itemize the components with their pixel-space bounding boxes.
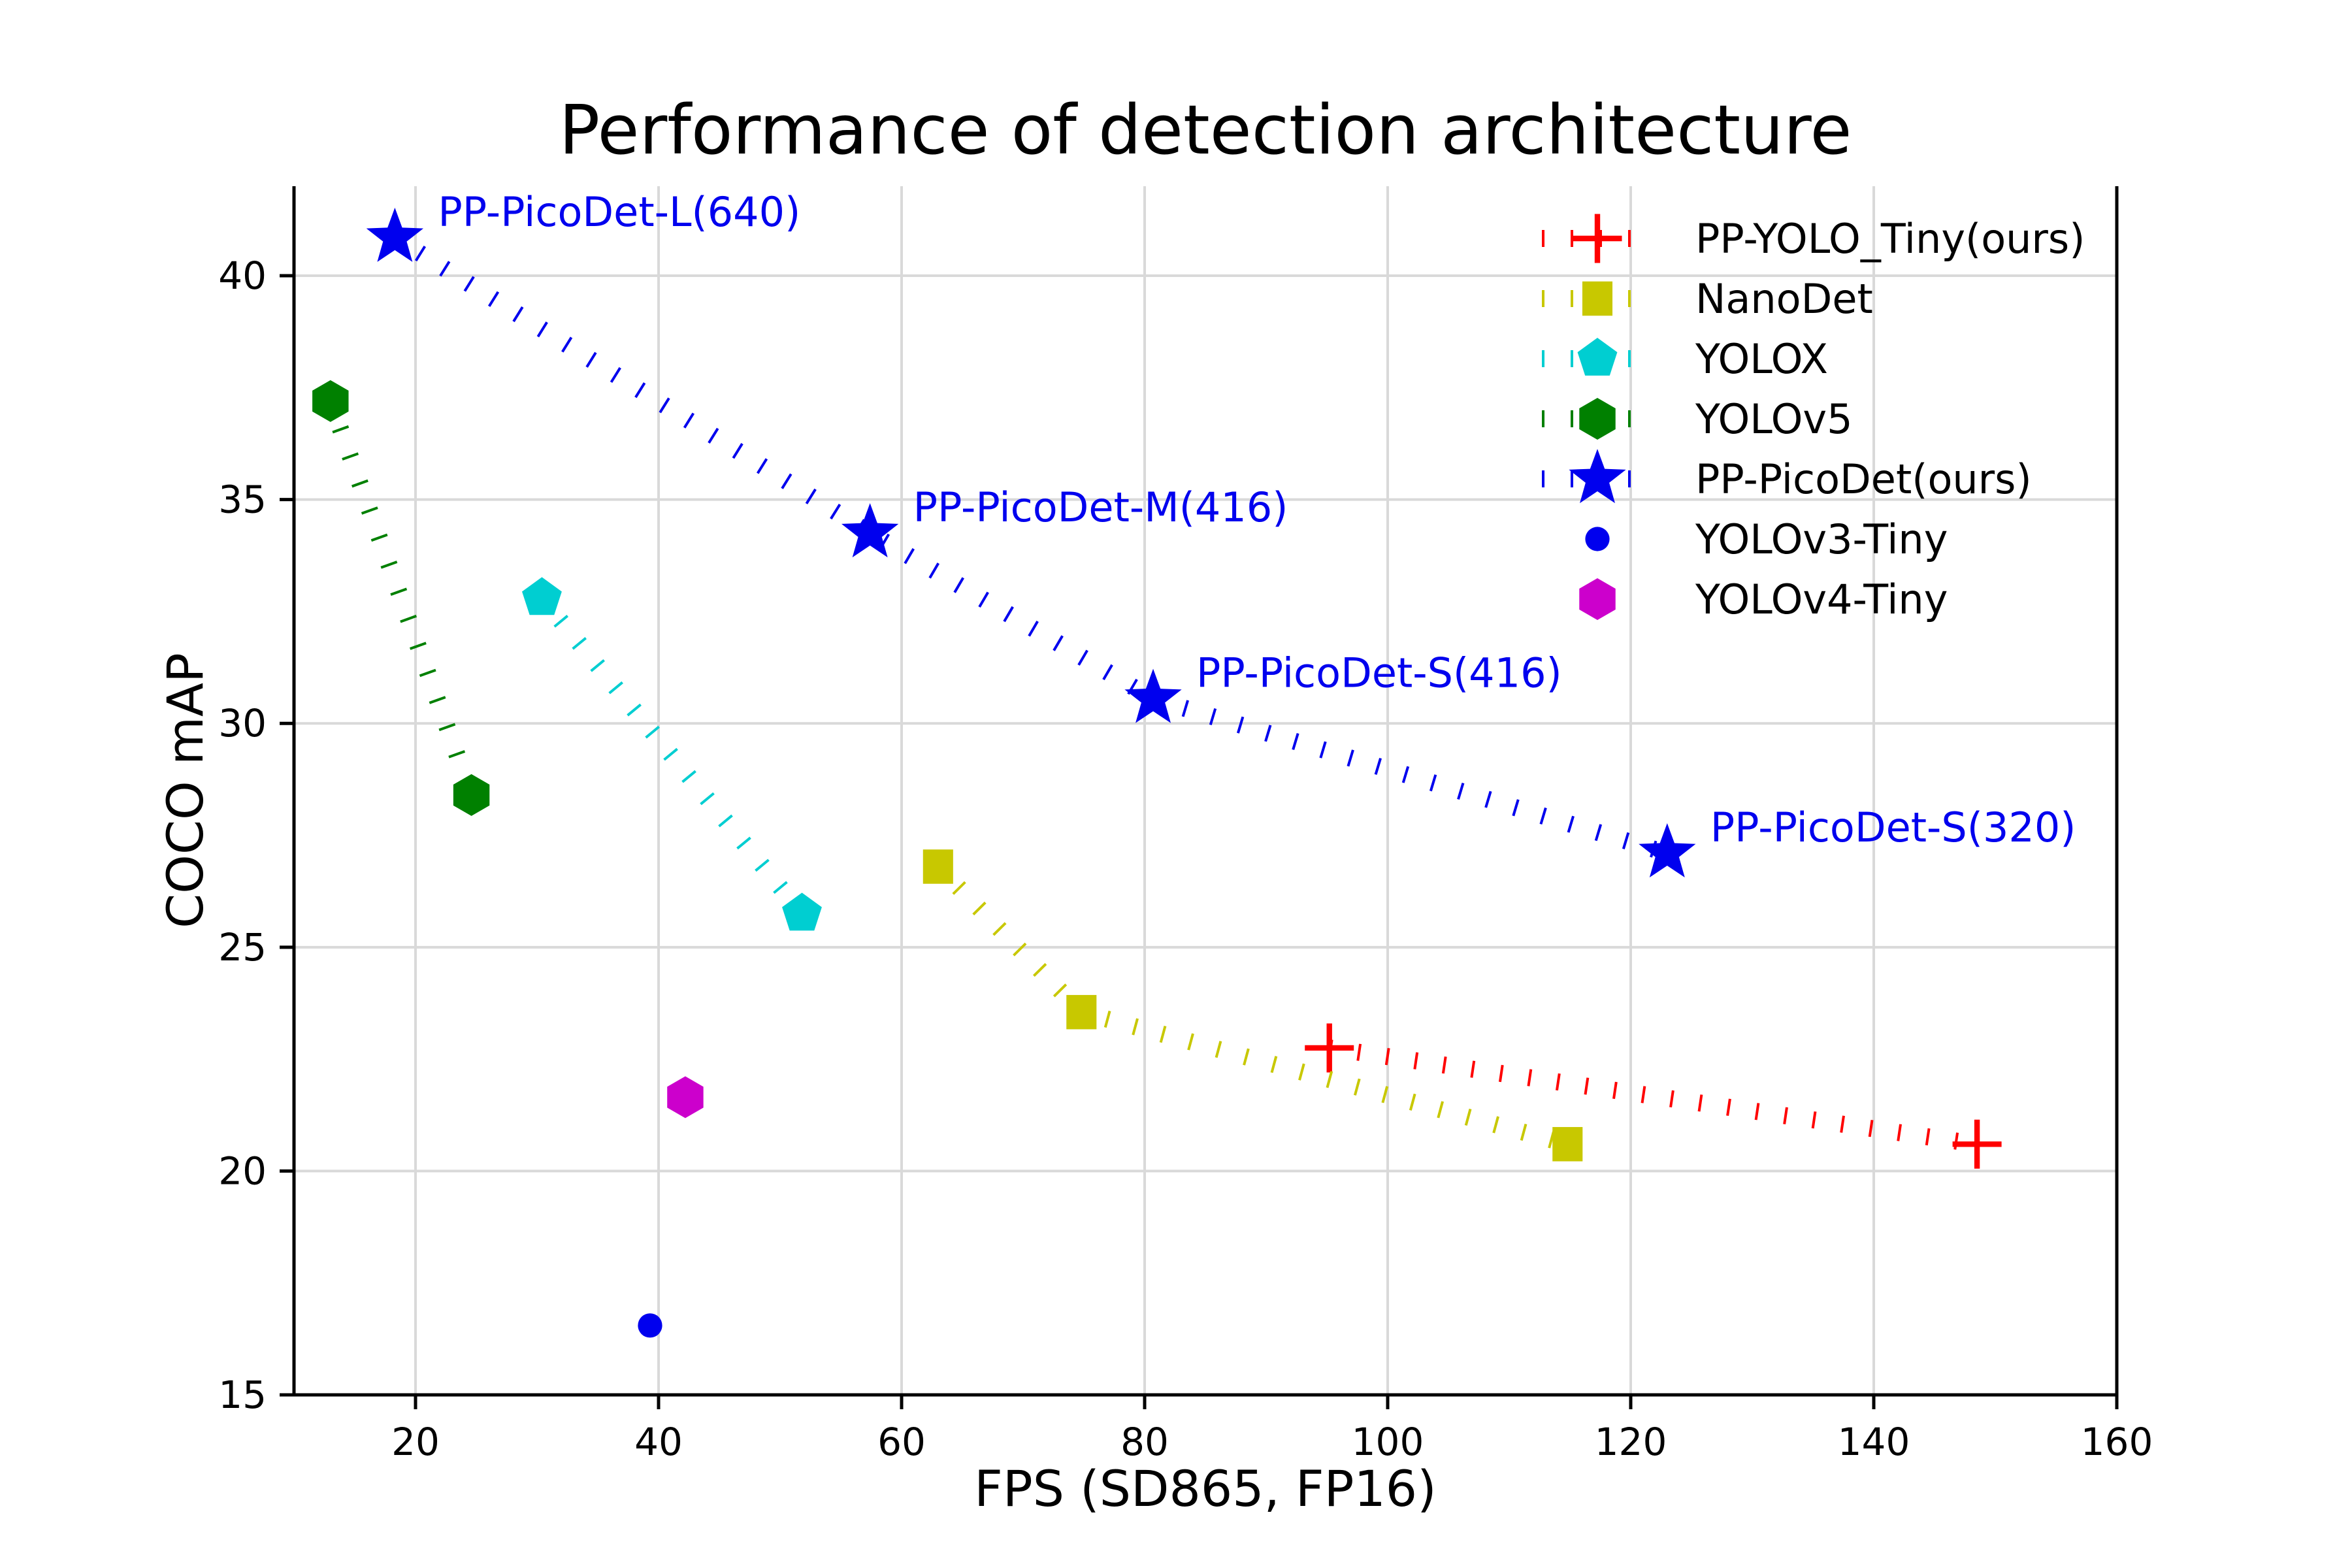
legend-marker-sample <box>1582 282 1612 316</box>
point-annotation: PP-PicoDet-S(320) <box>1710 804 2076 851</box>
legend-label: YOLOv3-Tiny <box>1695 515 1948 563</box>
legend-label: PP-YOLO_Tiny(ours) <box>1695 215 2085 263</box>
x-tick-label: 80 <box>1120 1420 1169 1464</box>
legend-label: YOLOv4-Tiny <box>1695 576 1948 623</box>
data-point <box>1066 995 1096 1029</box>
chart-title: Performance of detection architecture <box>559 90 1852 170</box>
legend-label: PP-PicoDet(ours) <box>1695 455 2032 503</box>
legend-label: YOLOX <box>1695 335 1828 383</box>
x-tick-label: 120 <box>1595 1420 1667 1464</box>
data-point <box>1552 1127 1582 1161</box>
y-axis-label: COCO mAP <box>156 653 214 928</box>
x-tick-label: 60 <box>877 1420 926 1464</box>
y-tick-label: 20 <box>218 1149 267 1193</box>
point-annotation: PP-PicoDet-L(640) <box>438 188 800 236</box>
y-tick-label: 35 <box>218 478 267 522</box>
y-tick-label: 30 <box>218 701 267 745</box>
data-point <box>638 1313 662 1337</box>
chart-page: PP-PicoDet-L(640)PP-PicoDet-M(416)PP-Pic… <box>0 0 2352 1568</box>
data-point <box>923 849 953 883</box>
point-annotation: PP-PicoDet-M(416) <box>913 483 1288 531</box>
y-tick-label: 40 <box>218 253 267 298</box>
series-yolov3-tiny <box>638 1313 662 1337</box>
y-tick-label: 15 <box>218 1373 267 1417</box>
x-tick-label: 20 <box>391 1420 440 1464</box>
y-tick-label: 25 <box>218 925 267 970</box>
legend-label: NanoDet <box>1695 275 1873 323</box>
x-tick-label: 100 <box>1352 1420 1424 1464</box>
legend-label: YOLOv5 <box>1695 395 1853 443</box>
x-axis-label: FPS (SD865, FP16) <box>974 1460 1437 1518</box>
x-tick-label: 160 <box>2081 1420 2153 1464</box>
performance-scatter-chart: PP-PicoDet-L(640)PP-PicoDet-M(416)PP-Pic… <box>0 0 2352 1568</box>
legend-marker-sample <box>1585 527 1609 551</box>
legend-entry-nanodet[interactable]: NanoDet <box>1542 275 1873 323</box>
x-tick-label: 40 <box>634 1420 683 1464</box>
point-annotation: PP-PicoDet-S(416) <box>1196 649 1562 697</box>
x-tick-label: 140 <box>1838 1420 1910 1464</box>
